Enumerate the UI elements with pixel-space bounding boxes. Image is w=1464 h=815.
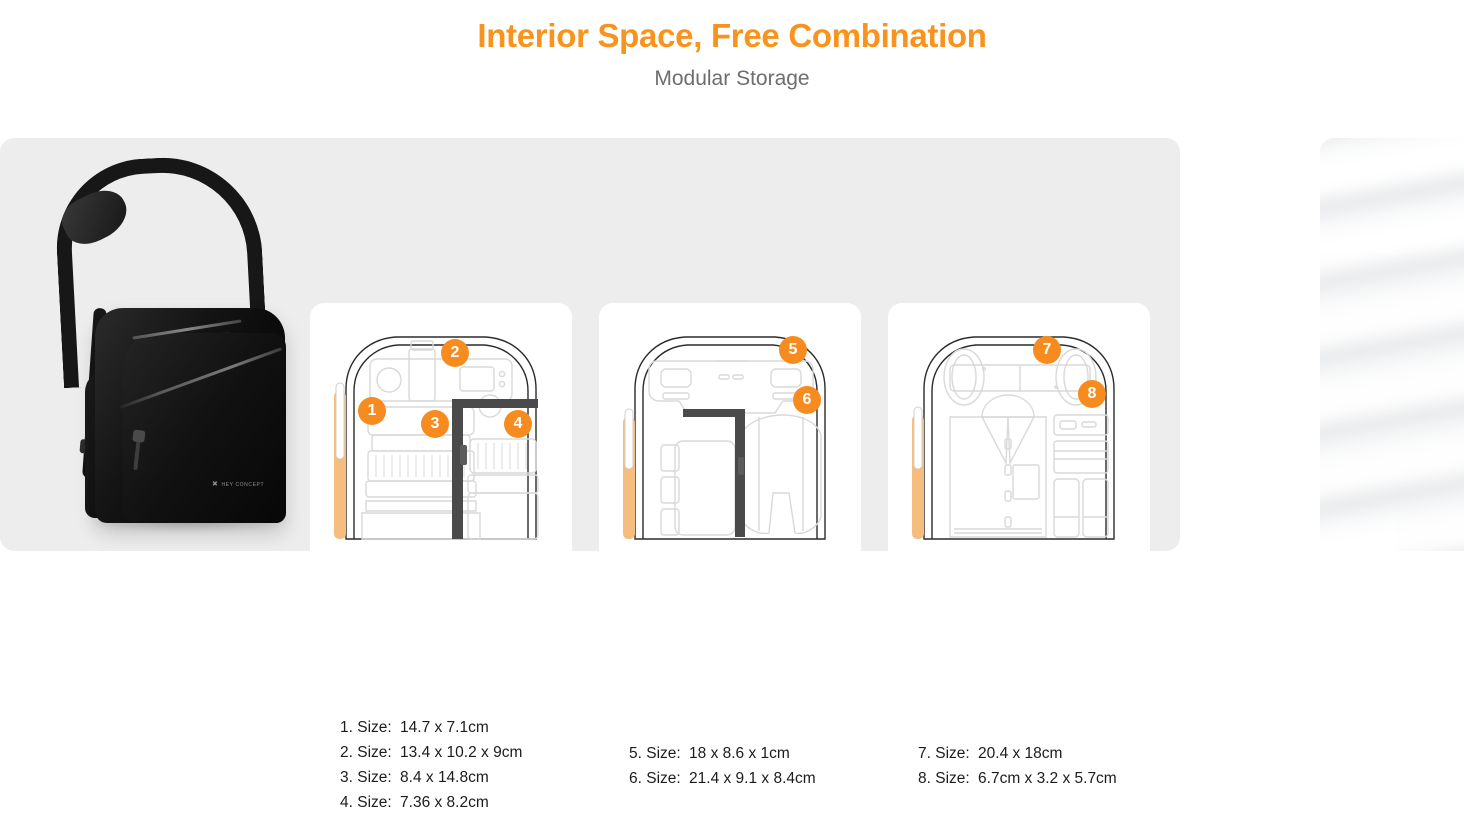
interior-divider — [683, 409, 745, 537]
badge-5: 5 — [779, 336, 807, 364]
spec-value: 14.7 x 7.1cm — [400, 719, 489, 736]
page-title: Interior Space, Free Combination — [0, 0, 1464, 56]
drone-gear-svg — [599, 317, 861, 545]
bag-front-panel — [123, 333, 286, 523]
drone-controller — [649, 361, 813, 413]
spec-item: 2. Size: 13.4 x 10.2 x 9cm — [340, 740, 572, 765]
product-photo: ✖HEY CONCEPT — [40, 158, 300, 538]
logo-mark: ✖ — [212, 481, 218, 488]
spec-list-drone-kit: 5. Size: 18 x 8.6 x 1cm 6. Size: 21.4 x … — [599, 741, 861, 791]
spec-value: 7.36 x 8.2cm — [400, 794, 489, 811]
spec-label: Size: — [357, 719, 391, 736]
headphones — [944, 349, 1096, 405]
badge-6: 6 — [793, 386, 821, 414]
spec-label: Size: — [357, 744, 391, 761]
spec-value: 20.4 x 18cm — [978, 745, 1062, 762]
spec-label: Size: — [935, 745, 969, 762]
spec-label: Size: — [935, 770, 969, 787]
accessory-stack — [661, 441, 735, 535]
spec-list-travel-kit: 7. Size: 20.4 x 18cm 8. Size: 6.7cm x 3.… — [888, 741, 1150, 791]
travel-gear-svg — [888, 317, 1150, 545]
page-subtitle: Modular Storage — [0, 56, 1464, 92]
spec-item: 3. Size: 8.4 x 14.8cm — [340, 765, 572, 790]
spec-item: 8. Size: 6.7cm x 3.2 x 5.7cm — [918, 766, 1150, 791]
badge-8: 8 — [1078, 380, 1106, 408]
spec-label: Size: — [646, 745, 680, 762]
spec-index: 4. — [340, 794, 353, 811]
spec-label: Size: — [357, 769, 391, 786]
spec-value: 8.4 x 14.8cm — [400, 769, 489, 786]
spec-item: 5. Size: 18 x 8.6 x 1cm — [629, 741, 861, 766]
spec-index: 8. — [918, 770, 931, 787]
spec-label: Size: — [646, 770, 680, 787]
badge-3: 3 — [421, 410, 449, 438]
spec-index: 3. — [340, 769, 353, 786]
brand-logo: ✖HEY CONCEPT — [212, 480, 264, 488]
spec-index: 5. — [629, 745, 642, 762]
drone-body — [741, 415, 821, 533]
spec-index: 6. — [629, 770, 642, 787]
spec-value: 21.4 x 9.1 x 8.4cm — [689, 770, 816, 787]
spec-list-camera-kit: 1. Size: 14.7 x 7.1cm 2. Size: 13.4 x 10… — [310, 715, 572, 815]
accessory-pouches — [1054, 415, 1108, 537]
spec-value: 6.7cm x 3.2 x 5.7cm — [978, 770, 1117, 787]
adjacent-section-preview — [1320, 138, 1464, 551]
spec-item: 4. Size: 7.36 x 8.2cm — [340, 790, 572, 815]
spec-value: 18 x 8.6 x 1cm — [689, 745, 790, 762]
folded-shirt — [950, 395, 1046, 537]
spec-index: 1. — [340, 719, 353, 736]
blurred-fabric-texture — [1320, 138, 1464, 551]
spec-card-drone-kit: 5 6 5. Size: 18 x 8.6 x 1cm 6. Size: 21.… — [599, 303, 861, 665]
backpack-interior-drone-illustration — [599, 317, 861, 545]
spec-item: 7. Size: 20.4 x 18cm — [918, 741, 1150, 766]
spec-value: 13.4 x 10.2 x 9cm — [400, 744, 522, 761]
badge-7: 7 — [1033, 336, 1061, 364]
content-panel: ✖HEY CONCEPT — [0, 138, 1180, 551]
badge-4: 4 — [504, 410, 532, 438]
badge-2: 2 — [441, 339, 469, 367]
backpack-interior-travel-illustration — [888, 317, 1150, 545]
spec-label: Size: — [357, 794, 391, 811]
badge-1: 1 — [358, 397, 386, 425]
spec-index: 2. — [340, 744, 353, 761]
spec-item: 1. Size: 14.7 x 7.1cm — [340, 715, 572, 740]
page-header: Interior Space, Free Combination Modular… — [0, 0, 1464, 92]
spec-card-travel-kit: 7 8 7. Size: 20.4 x 18cm 8. Size: 6.7cm … — [888, 303, 1150, 665]
spec-index: 7. — [918, 745, 931, 762]
spec-item: 6. Size: 21.4 x 9.1 x 8.4cm — [629, 766, 861, 791]
logo-wordmark: HEY CONCEPT — [221, 482, 264, 488]
spec-card-camera-kit: 1 2 3 4 1. Size: 14.7 x 7.1cm 2. Size: 1… — [310, 303, 572, 665]
